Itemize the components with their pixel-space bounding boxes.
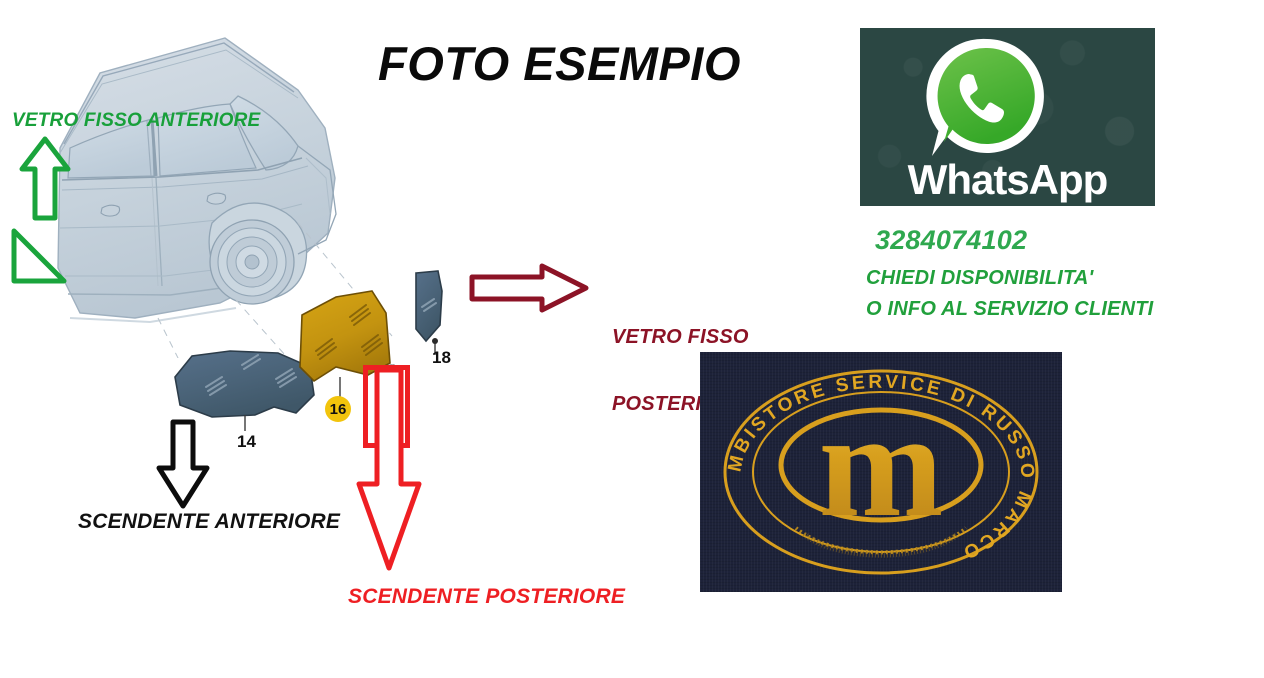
- green-triangle-outline: [8, 225, 70, 292]
- contact-line-2: O INFO AL SERVIZIO CLIENTI: [866, 298, 1153, 320]
- black-down-arrow: [155, 418, 211, 515]
- shop-logo: MRICAMBISTORE SERVICE DI RUSSO MARCO m: [700, 352, 1062, 592]
- whatsapp-phone-icon: [924, 36, 1050, 162]
- shop-logo-monogram: m: [819, 382, 944, 548]
- label-front-drop-glass: SCENDENTE ANTERIORE: [78, 510, 340, 534]
- shop-logo-mark: MRICAMBISTORE SERVICE DI RUSSO MARCO m: [700, 352, 1062, 592]
- part-14-shape: [175, 351, 314, 417]
- label-rear-drop-glass: SCENDENTE POSTERIORE: [348, 585, 625, 609]
- poster-canvas: FOTO ESEMPIO: [0, 0, 1264, 678]
- contact-phone-number[interactable]: 3284074102: [875, 225, 1027, 255]
- label-front-fixed-glass: VETRO FISSO ANTERIORE: [12, 110, 260, 131]
- part-18-shape: [416, 271, 442, 341]
- red-down-arrow: [355, 366, 423, 579]
- part-number-14: 14: [237, 432, 256, 452]
- part-number-16: 16: [325, 396, 351, 422]
- label-rear-fixed-glass-line1: VETRO FISSO: [612, 326, 749, 348]
- part-number-18: 18: [432, 348, 451, 368]
- page-title: FOTO ESEMPIO: [378, 38, 741, 91]
- whatsapp-wordmark: WhatsApp: [860, 156, 1155, 204]
- green-up-arrow: [18, 136, 72, 227]
- darkred-right-arrow: [468, 262, 590, 319]
- contact-line-1: CHIEDI DISPONIBILITA': [866, 267, 1093, 289]
- whatsapp-banner[interactable]: WhatsApp: [860, 28, 1155, 206]
